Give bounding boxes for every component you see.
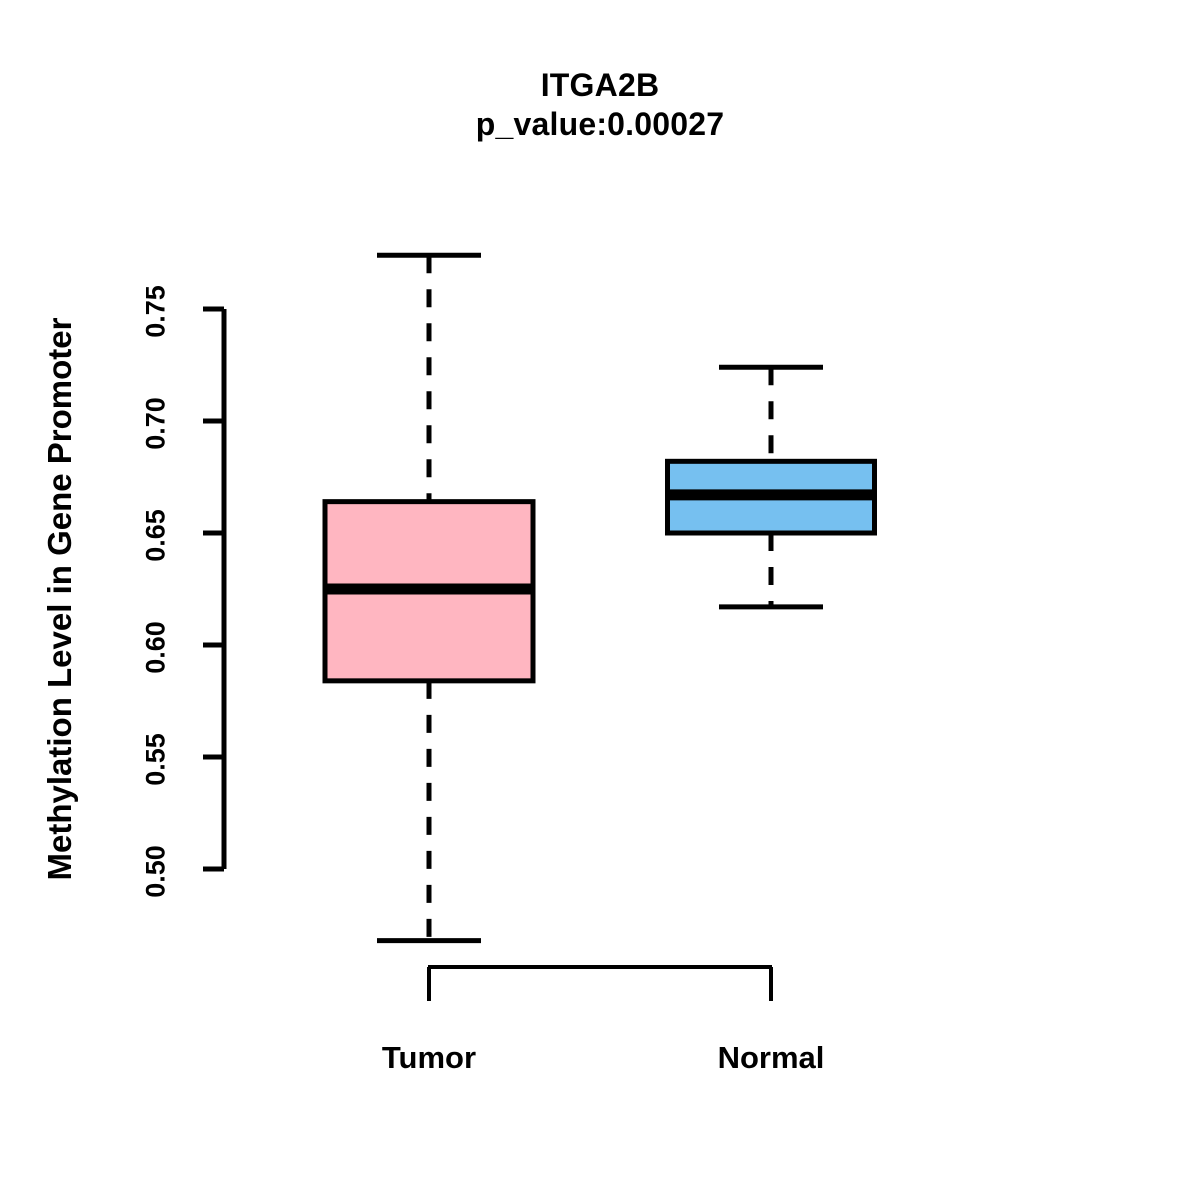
x-tick-label-tumor: Tumor bbox=[279, 1040, 579, 1076]
boxplot-figure: ITGA2B p_value:0.00027 Methylation Level… bbox=[0, 0, 1200, 1200]
box-tumor[interactable] bbox=[325, 255, 533, 940]
box-normal[interactable] bbox=[668, 367, 875, 607]
x-tick-label-normal: Normal bbox=[621, 1040, 921, 1076]
x-axis bbox=[428, 967, 772, 1001]
y-axis bbox=[203, 309, 224, 869]
plot-canvas bbox=[0, 0, 1200, 1200]
